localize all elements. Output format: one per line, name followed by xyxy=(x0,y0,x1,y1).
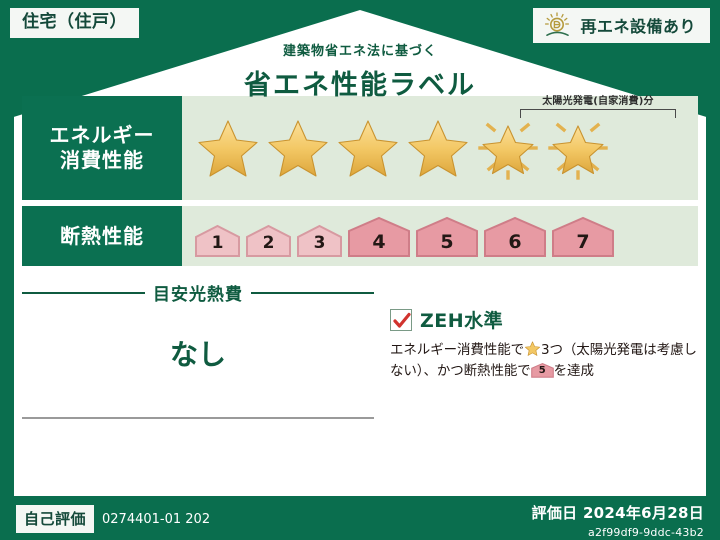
insulation-performance-row: 断熱性能 1 2 xyxy=(22,206,698,266)
grade-badge-3-value: 3 xyxy=(296,233,343,253)
heading-rule-right xyxy=(251,292,374,294)
utility-cost-heading-text: 目安光熱費 xyxy=(153,280,243,305)
label-footer: 自己評価 0274401-01 202 評価日 2024年6月28日 a2f99… xyxy=(0,496,720,540)
energy-label-line1: エネルギー xyxy=(50,123,155,148)
grade-badge-2: 2 xyxy=(245,223,292,257)
zeh-checkbox[interactable] xyxy=(390,309,412,331)
category-tag: 住宅（住戸） xyxy=(10,8,139,38)
zeh-description: エネルギー消費性能で3つ（太陽光発電は考慮しない）、かつ断熱性能で5を達成 xyxy=(390,340,698,382)
label-title-block: 建築物省エネ法に基づく 省エネ性能ラベル xyxy=(0,40,720,102)
grade-badge-7-value: 7 xyxy=(551,231,615,253)
utility-cost-block: 目安光熱費 なし xyxy=(22,280,374,419)
star-filled xyxy=(264,115,332,181)
grade-badge-3: 3 xyxy=(296,223,343,257)
grade-badge-2-value: 2 xyxy=(245,233,292,253)
evaluation-meta: 評価日 2024年6月28日 a2f99df9-9ddc-43b2 xyxy=(532,502,704,539)
evaluation-type-badge: 自己評価 xyxy=(16,505,94,533)
renewable-energy-badge: 再エネ設備あり xyxy=(533,8,710,43)
utility-cost-heading: 目安光熱費 xyxy=(22,280,374,305)
zeh-desc-part4: を達成 xyxy=(554,363,594,379)
energy-performance-label: エネルギー 消費性能 xyxy=(22,96,182,200)
energy-performance-row: エネルギー 消費性能 xyxy=(22,96,698,200)
utility-cost-divider xyxy=(22,417,374,419)
star-filled xyxy=(194,115,262,181)
zeh-title: ZEH水準 xyxy=(420,306,503,333)
inline-star-icon xyxy=(524,340,541,357)
solar-sun-icon xyxy=(543,12,573,38)
label-content: エネルギー 消費性能 xyxy=(22,96,698,532)
zeh-desc-part2: 3つ（太陽光発電 xyxy=(541,342,643,358)
energy-star-rating xyxy=(182,115,612,181)
zeh-block: ZEH水準 エネルギー消費性能で3つ（太陽光発電は考慮しない）、かつ断熱性能で5… xyxy=(374,280,698,419)
grade-badge-6-value: 6 xyxy=(483,231,547,253)
renewable-badge-label: 再エネ設備あり xyxy=(580,13,696,37)
evaluation-id: 0274401-01 202 xyxy=(102,512,210,527)
grade-badge-1-value: 1 xyxy=(194,233,241,253)
star-solar xyxy=(544,115,612,181)
star-solar xyxy=(474,115,542,181)
inline-grade-value: 5 xyxy=(531,363,554,379)
zeh-heading: ZEH水準 xyxy=(390,306,698,333)
check-icon xyxy=(393,312,411,330)
star-filled xyxy=(334,115,402,181)
evaluation-type-block: 自己評価 0274401-01 202 xyxy=(16,505,210,533)
star-filled xyxy=(404,115,472,181)
grade-badge-5-value: 5 xyxy=(415,231,479,253)
insulation-performance-value: 1 2 3 4 xyxy=(182,206,698,266)
inline-grade-badge: 5 xyxy=(531,361,554,379)
grade-badge-4: 4 xyxy=(347,215,411,257)
grade-badge-7: 7 xyxy=(551,215,615,257)
energy-label-line2: 消費性能 xyxy=(60,148,144,173)
label-main-title: 省エネ性能ラベル xyxy=(0,63,720,102)
evaluation-date: 評価日 2024年6月28日 xyxy=(532,502,704,523)
insulation-performance-label: 断熱性能 xyxy=(22,206,182,266)
insulation-label-text: 断熱性能 xyxy=(60,224,144,249)
grade-badge-5: 5 xyxy=(415,215,479,257)
grade-badge-6: 6 xyxy=(483,215,547,257)
grade-badge-1: 1 xyxy=(194,223,241,257)
lower-section: 目安光熱費 なし ZEH水準 エネルギー消費性能で3つ（太陽光発電は考慮しない）… xyxy=(22,280,698,419)
heading-rule-left xyxy=(22,292,145,294)
energy-performance-value: 太陽光発電(自家消費)分 xyxy=(182,96,698,200)
grade-badge-4-value: 4 xyxy=(347,231,411,253)
utility-cost-value: なし xyxy=(22,333,374,373)
evaluation-hash: a2f99df9-9ddc-43b2 xyxy=(532,526,704,539)
zeh-desc-part1: エネルギー消費性能で xyxy=(390,342,524,358)
insulation-grade-scale: 1 2 3 4 xyxy=(182,215,615,257)
